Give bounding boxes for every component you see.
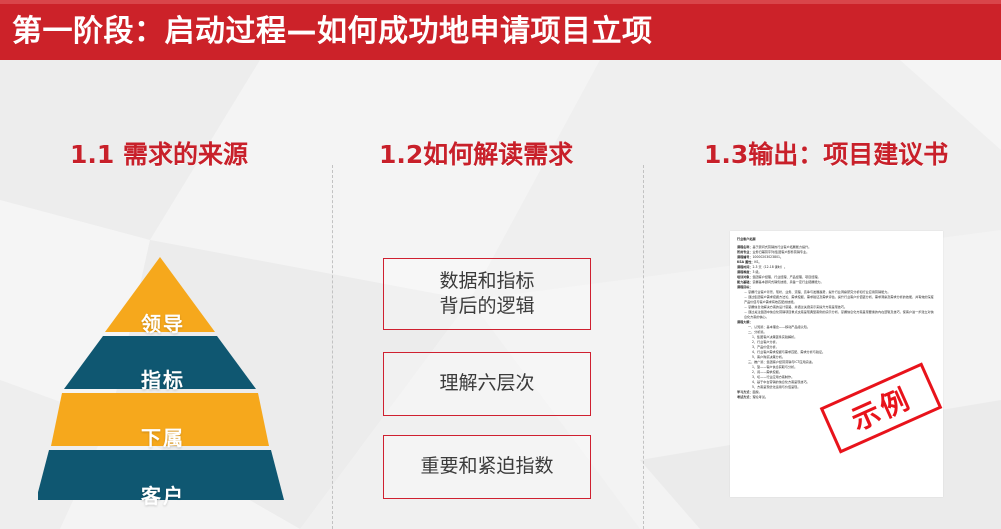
document-footer-value: 面授。 bbox=[752, 390, 761, 394]
concept-box-1-text: 数据和指标 背后的逻辑 bbox=[439, 269, 534, 319]
page-title: 第一阶段：启动过程—如何成功地申请项目立项 bbox=[0, 17, 653, 47]
concept-box-2-text: 理解六层次 bbox=[439, 371, 534, 396]
pyramid-level-3-shape[interactable] bbox=[38, 450, 284, 500]
document-field-key: 能力基础： bbox=[737, 280, 752, 284]
document-footer-value: 理论考试。 bbox=[752, 395, 767, 399]
pyramid-level-2-shape[interactable] bbox=[51, 393, 269, 446]
document-field-list: 课程名称：基于顾问式营销的行业客户拓展能力提升。所用专业：业务归辅营字列/集团客… bbox=[737, 245, 936, 285]
document-field-value: 2-3 天（12-18 课时）。 bbox=[752, 265, 787, 269]
document-field-value: 3 级。 bbox=[752, 270, 761, 274]
slide-title-bar: 第一阶段：启动过程—如何成功地申请项目立项 bbox=[0, 4, 1001, 60]
pyramid-level-1-shape[interactable] bbox=[64, 336, 256, 389]
document-field-key: 课程编号： bbox=[737, 255, 752, 259]
section-heading-1-3: 1.3输出：项目建议书 bbox=[704, 135, 948, 171]
column-divider-1 bbox=[332, 165, 333, 529]
document-preview[interactable]: 行业客户拓展 课程名称：基于顾问式营销的行业客户拓展能力提升。所用专业：业务归辅… bbox=[730, 231, 943, 497]
concept-box-3[interactable]: 重要和紧迫指数 bbox=[383, 435, 591, 499]
document-field-value: 掌握基本顾问式销售技能、具备一定行业把握能力。 bbox=[752, 280, 823, 284]
document-field-value: 集团客户经理、行业经理、产品经理、项目经理。 bbox=[752, 275, 820, 279]
concept-box-2[interactable]: 理解六层次 bbox=[383, 352, 591, 416]
document-footer-key: 学习方式： bbox=[737, 390, 752, 394]
section-heading-1-1: 1.1 需求的来源 bbox=[70, 135, 248, 171]
document-field-key: 培训对象： bbox=[737, 275, 752, 279]
column-divider-2 bbox=[643, 165, 644, 529]
document-field-value: 10000203023801。 bbox=[752, 255, 783, 259]
document-field-key: 课程名称： bbox=[737, 245, 752, 249]
document-field-key: 课程时间： bbox=[737, 265, 752, 269]
pyramid-shapes bbox=[38, 252, 288, 504]
document-field-key: 所用专业： bbox=[737, 250, 752, 254]
document-objective-item: － 通过关注集团中信息化营销项目重点文案呈现典型案例的演示分析，掌握信息化方案呈… bbox=[737, 310, 936, 320]
document-field-key: KSA 属性： bbox=[737, 260, 754, 264]
concept-box-1[interactable]: 数据和指标 背后的逻辑 bbox=[383, 258, 591, 330]
document-field-value: KS。 bbox=[754, 260, 761, 264]
concept-box-1-line-1: 数据和指标 bbox=[439, 269, 534, 294]
pyramid-level-0-shape[interactable] bbox=[105, 257, 215, 332]
pyramid-diagram: 领导 指标 下属 客户 bbox=[38, 252, 288, 504]
document-field-key: 课程难度： bbox=[737, 270, 752, 274]
document-footer-key: 考试方式： bbox=[737, 395, 752, 399]
document-objective-item: － 通过集团客户需求挖掘方法论、需求挖掘、需求验证及需求评估，提升行业客户价值链… bbox=[737, 295, 936, 305]
concept-box-1-line-2: 背后的逻辑 bbox=[439, 294, 534, 319]
document-field-value: 业务归辅营字列/集团客户部务营销专业。 bbox=[752, 250, 809, 254]
slide-canvas: 第一阶段：启动过程—如何成功地申请项目立项 1.1 需求的来源 1.2如何解读需… bbox=[0, 0, 1001, 529]
concept-box-3-text: 重要和紧迫指数 bbox=[420, 454, 553, 479]
document-field-value: 基于顾问式营销的行业客户拓展能力提升。 bbox=[752, 245, 811, 249]
section-heading-1-2: 1.2如何解读需求 bbox=[379, 135, 573, 171]
document-objectives-list: － 掌握行业客户背景、现状、业务、流程、竞争与发展趋势，提升行业洞察研究分析和行… bbox=[737, 290, 936, 320]
